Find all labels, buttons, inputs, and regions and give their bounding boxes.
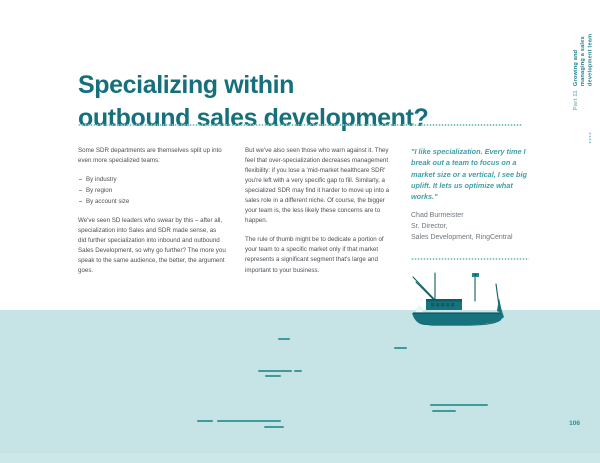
title-dotted-rule [78, 124, 522, 126]
wave-mark [217, 420, 281, 422]
list-item: By industry [78, 175, 226, 185]
page-number: 106 [569, 420, 580, 427]
quote-author-company: Sales Development, RingCentral [411, 233, 531, 244]
left-intro-paragraph: Some SDR departments are themselves spli… [78, 146, 226, 166]
water-background [0, 310, 600, 463]
left-body-paragraph: We've seen SD leaders who swear by this … [78, 216, 226, 276]
specialization-bullet-list: By industry By region By account size [78, 175, 226, 207]
sidebar-section-line-2: managing a sales [580, 34, 587, 86]
quote-author-name: Chad Burmeister [411, 211, 531, 222]
quote-author-role: Sr. Director, [411, 222, 531, 233]
sidebar-part-number: Part 11 [573, 90, 579, 110]
section-sidebar-label: Part 11 Growing and managing a sales dev… [573, 34, 594, 126]
fishing-trawler-illustration [404, 268, 528, 326]
sidebar-section-line-3: development team [587, 34, 594, 86]
page-title-line-2: outbound sales development? [78, 102, 498, 135]
wave-mark [258, 370, 292, 372]
wave-mark [197, 420, 213, 422]
wave-mark [394, 347, 407, 349]
quote-dotted-rule [411, 258, 529, 260]
sidebar-dotted-rule [589, 132, 591, 144]
page-canvas: Part 11 Growing and managing a sales dev… [0, 0, 600, 463]
wave-mark [265, 375, 281, 377]
middle-paragraph-1: But we've also seen those who warn again… [245, 146, 393, 226]
middle-paragraph-2: The rule of thumb might be to dedicate a… [245, 235, 393, 275]
pull-quote-attribution: Chad Burmeister Sr. Director, Sales Deve… [411, 211, 531, 243]
pull-quote-text: "I like specialization. Every time I bre… [411, 146, 531, 202]
list-item: By region [78, 186, 226, 196]
sidebar-section-title: Growing and managing a sales development… [573, 34, 594, 86]
wave-mark [278, 338, 290, 340]
water-bottom-strip [0, 453, 600, 463]
wave-mark [294, 370, 302, 372]
wave-mark [470, 404, 488, 406]
list-item: By account size [78, 197, 226, 207]
wave-mark [432, 410, 456, 412]
pull-quote-block: "I like specialization. Every time I bre… [411, 146, 531, 243]
page-title-line-1: Specializing within [78, 69, 498, 102]
body-column-left: Some SDR departments are themselves spli… [78, 146, 226, 286]
body-column-middle: But we've also seen those who warn again… [245, 146, 393, 285]
wave-mark [264, 426, 284, 428]
sidebar-section-line-1: Growing and [573, 34, 580, 86]
